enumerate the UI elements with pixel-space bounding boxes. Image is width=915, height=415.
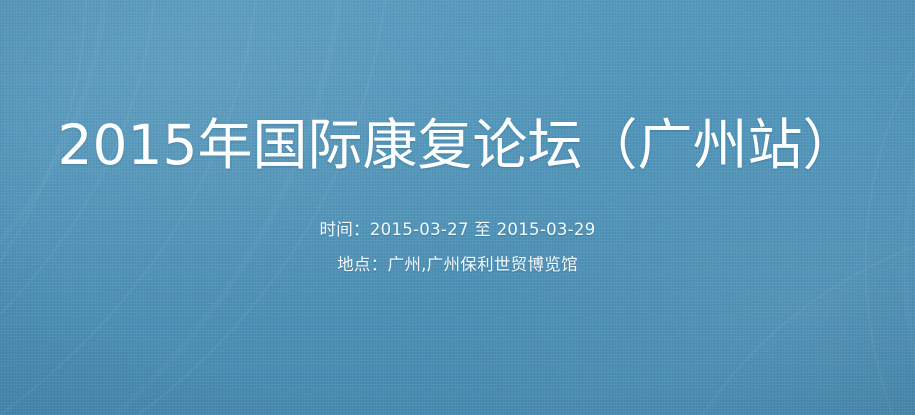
banner-content: 2015年国际康复论坛（广州站） 时间：2015-03-27 至 2015-03… [0, 0, 915, 415]
conference-banner: 2015年国际康复论坛（广州站） 时间：2015-03-27 至 2015-03… [0, 0, 915, 415]
event-meta-block: 时间：2015-03-27 至 2015-03-29 地点：广州,广州保利世贸博… [0, 216, 915, 279]
event-title: 2015年国际康复论坛（广州站） [0, 112, 915, 178]
event-date-line: 时间：2015-03-27 至 2015-03-29 [0, 216, 915, 244]
event-location-line: 地点：广州,广州保利世贸博览馆 [0, 251, 915, 279]
